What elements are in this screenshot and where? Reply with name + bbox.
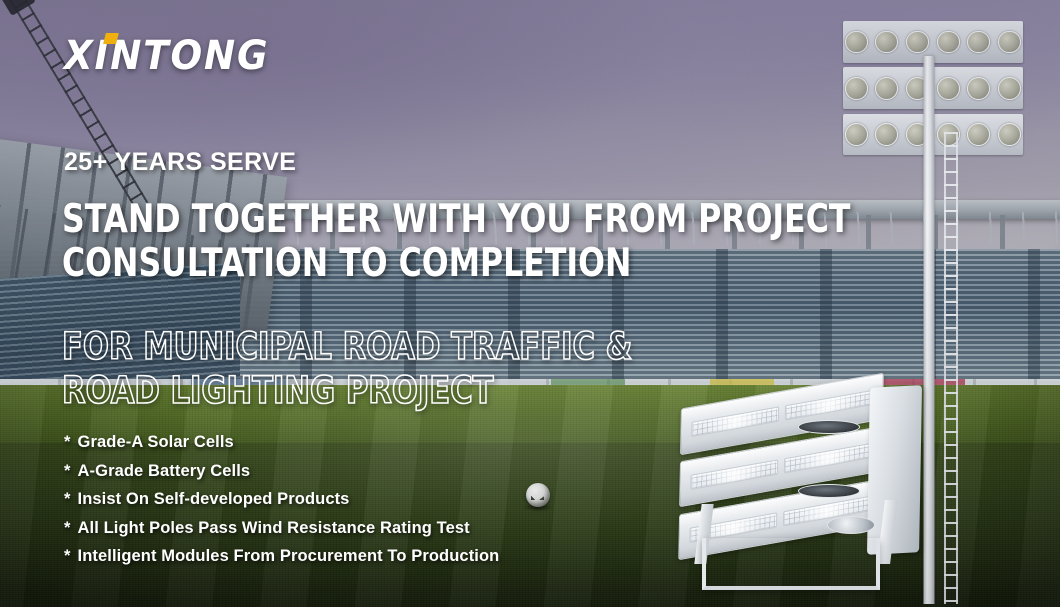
tower-lamp-icon — [998, 31, 1021, 54]
led-panel — [784, 443, 872, 474]
list-item: *Insist On Self-developed Products — [64, 485, 499, 514]
tower-lamp-icon — [875, 77, 898, 100]
brand-logo-text: XINTONG — [64, 33, 269, 79]
tower-mast — [924, 56, 935, 604]
bullet-marker-icon: * — [64, 542, 71, 571]
led-floodlight-product — [678, 392, 918, 592]
led-panel — [785, 390, 873, 421]
list-item-label: A-Grade Battery Cells — [78, 462, 251, 480]
bullet-marker-icon: * — [64, 514, 71, 543]
tower-lamp-icon — [845, 77, 868, 100]
led-panel — [692, 406, 780, 437]
eyebrow-text: 25+ YEARS SERVE — [64, 148, 296, 177]
list-item-label: Intelligent Modules From Procurement To … — [78, 547, 500, 565]
promo-banner: XINTONG 25+ YEARS SERVE STAND TOGETHER W… — [0, 0, 1060, 607]
soccer-ball — [526, 483, 550, 507]
tower-lamp-icon — [875, 31, 898, 54]
tower-lamp-icon — [998, 123, 1021, 146]
page-title: STAND TOGETHER WITH YOU FROM PROJECT CON… — [62, 198, 960, 286]
tower-lamp-icon — [845, 123, 868, 146]
floodlight-bolt-icon — [798, 484, 860, 498]
list-item: *Intelligent Modules From Procurement To… — [64, 542, 499, 571]
tower-lamp-icon — [937, 77, 960, 100]
list-item-label: Insist On Self-developed Products — [78, 490, 350, 508]
led-panel — [691, 459, 779, 490]
list-item: *A-Grade Battery Cells — [64, 457, 499, 486]
list-item-label: Grade-A Solar Cells — [78, 433, 234, 451]
tower-lamp-icon — [967, 77, 990, 100]
tower-lamp-icon — [967, 123, 990, 146]
subheadline-outline-text: FOR MUNICIPAL ROAD TRAFFIC & ROAD LIGHTI… — [62, 325, 632, 412]
tower-lamp-icon — [998, 77, 1021, 100]
brand-logo[interactable]: XINTONG — [64, 36, 269, 76]
tower-lamp-icon — [967, 31, 990, 54]
list-item-label: All Light Poles Pass Wind Resistance Rat… — [78, 519, 470, 537]
tower-lamp-icon — [937, 31, 960, 54]
bullet-marker-icon: * — [64, 428, 71, 457]
tower-lamp-icon — [845, 31, 868, 54]
floodlight-bolt-icon — [798, 420, 860, 434]
tower-lamp-icon — [875, 123, 898, 146]
floodlight-u-bracket — [702, 538, 879, 590]
list-item: *Grade-A Solar Cells — [64, 428, 499, 457]
tower-lamp-icon — [906, 31, 929, 54]
bullet-marker-icon: * — [64, 457, 71, 486]
floodlight-pivot-knuckle — [827, 516, 875, 534]
bullet-marker-icon: * — [64, 485, 71, 514]
list-item: *All Light Poles Pass Wind Resistance Ra… — [64, 514, 499, 543]
feature-list: *Grade-A Solar Cells *A-Grade Battery Ce… — [64, 428, 499, 571]
